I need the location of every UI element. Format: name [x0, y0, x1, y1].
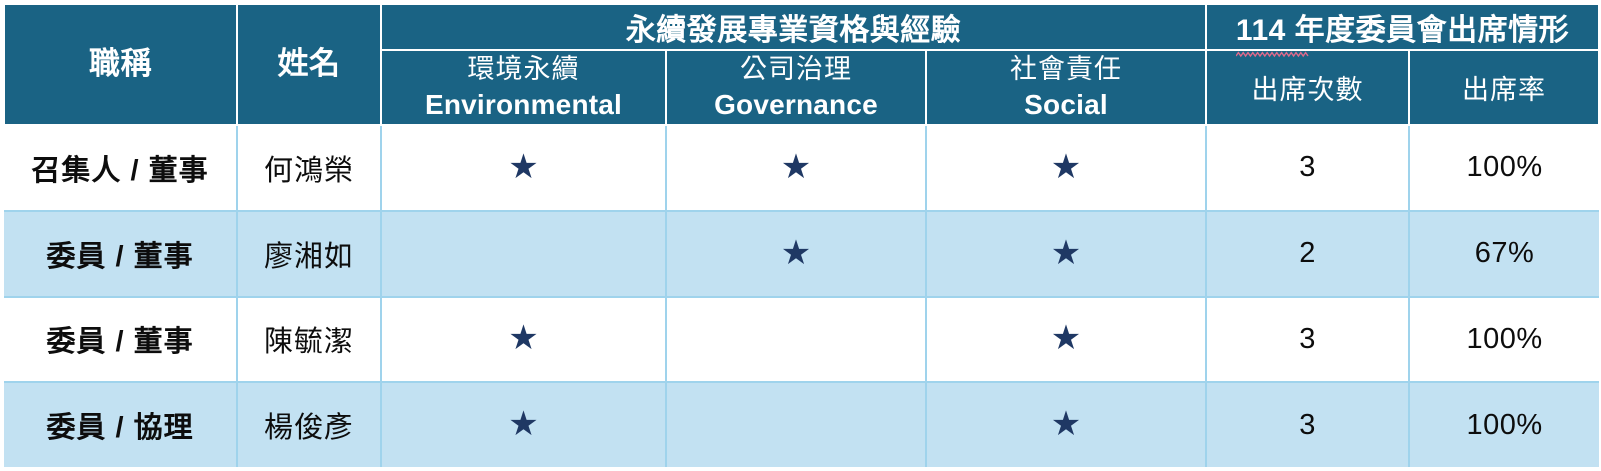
cell-environmental	[381, 211, 666, 297]
cell-name: 何鴻榮	[237, 125, 381, 211]
header-row-group: 職稱 姓名 永續發展專業資格與經驗 114 年度委員會出席情形	[4, 4, 1599, 50]
star-icon: ★	[1051, 321, 1081, 355]
cell-environmental: ★	[381, 125, 666, 211]
cell-attendance-rate: 100%	[1409, 297, 1599, 383]
header-sub-governance-cn: 公司治理	[671, 51, 921, 87]
cell-name: 廖湘如	[237, 211, 381, 297]
star-icon: ★	[1051, 407, 1081, 441]
cell-social: ★	[926, 382, 1206, 467]
header-sub-environmental-cn: 環境永續	[386, 51, 661, 87]
header-sub-attendance-count: 出席次數	[1206, 50, 1409, 125]
cell-attendance-count: 3	[1206, 297, 1409, 383]
star-icon: ★	[1051, 150, 1081, 184]
cell-title: 召集人 / 董事	[4, 125, 237, 211]
star-icon: ★	[508, 150, 538, 184]
esg-committee-table-root: 職稱 姓名 永續發展專業資格與經驗 114 年度委員會出席情形 環境永續	[0, 0, 1601, 471]
header-sub-environmental-en: Environmental	[386, 87, 661, 123]
star-icon: ★	[781, 150, 811, 184]
header-group-attendance: 114 年度委員會出席情形	[1206, 4, 1599, 50]
cell-attendance-rate: 100%	[1409, 382, 1599, 467]
header-sub-governance: 公司治理 Governance	[666, 50, 926, 125]
header-group-attendance-label: 114 年度委員會出席情形	[1236, 14, 1569, 47]
cell-governance	[666, 297, 926, 383]
cell-social: ★	[926, 211, 1206, 297]
table-row: 委員 / 協理 楊俊彥 ★ ★ 3 100%	[4, 382, 1599, 467]
star-icon: ★	[508, 321, 538, 355]
cell-attendance-rate: 67%	[1409, 211, 1599, 297]
header-group-esg-label: 永續發展專業資格與經驗	[626, 14, 962, 47]
header-sub-governance-en: Governance	[671, 87, 921, 123]
cell-attendance-rate: 100%	[1409, 125, 1599, 211]
table-row: 委員 / 董事 陳毓潔 ★ ★ 3 100%	[4, 297, 1599, 383]
cell-environmental: ★	[381, 382, 666, 467]
cell-attendance-count: 3	[1206, 125, 1409, 211]
table-body: 召集人 / 董事 何鴻榮 ★ ★ ★ 3 100% 委員 / 董事 廖湘如	[4, 125, 1599, 467]
header-group-attendance-wrap: 114 年度委員會出席情形	[1236, 5, 1569, 49]
cell-social: ★	[926, 125, 1206, 211]
header-group-esg: 永續發展專業資格與經驗	[381, 4, 1206, 50]
star-icon: ★	[1051, 236, 1081, 270]
cell-environmental: ★	[381, 297, 666, 383]
cell-governance: ★	[666, 211, 926, 297]
header-sub-social-en: Social	[931, 87, 1201, 123]
header-sub-environmental: 環境永續 Environmental	[381, 50, 666, 125]
cell-title: 委員 / 董事	[4, 211, 237, 297]
header-sub-attendance-count-label: 出席次數	[1211, 68, 1404, 107]
cell-title: 委員 / 董事	[4, 297, 237, 383]
header-sub-social: 社會責任 Social	[926, 50, 1206, 125]
cell-name: 楊俊彥	[237, 382, 381, 467]
cell-social: ★	[926, 297, 1206, 383]
star-icon: ★	[508, 407, 538, 441]
cell-name: 陳毓潔	[237, 297, 381, 383]
cell-attendance-count: 3	[1206, 382, 1409, 467]
table-row: 召集人 / 董事 何鴻榮 ★ ★ ★ 3 100%	[4, 125, 1599, 211]
cell-governance	[666, 382, 926, 467]
header-sub-attendance-rate: 出席率	[1409, 50, 1599, 125]
esg-committee-table: 職稱 姓名 永續發展專業資格與經驗 114 年度委員會出席情形 環境永續	[3, 3, 1600, 467]
header-col-title: 職稱	[4, 4, 237, 125]
header-sub-attendance-rate-label: 出席率	[1414, 68, 1594, 107]
table-header: 職稱 姓名 永續發展專業資格與經驗 114 年度委員會出席情形 環境永續	[4, 4, 1599, 125]
cell-title: 委員 / 協理	[4, 382, 237, 467]
star-icon: ★	[781, 236, 811, 270]
cell-attendance-count: 2	[1206, 211, 1409, 297]
header-col-name: 姓名	[237, 4, 381, 125]
cell-governance: ★	[666, 125, 926, 211]
header-sub-social-cn: 社會責任	[931, 51, 1201, 87]
table-row: 委員 / 董事 廖湘如 ★ ★ 2 67%	[4, 211, 1599, 297]
